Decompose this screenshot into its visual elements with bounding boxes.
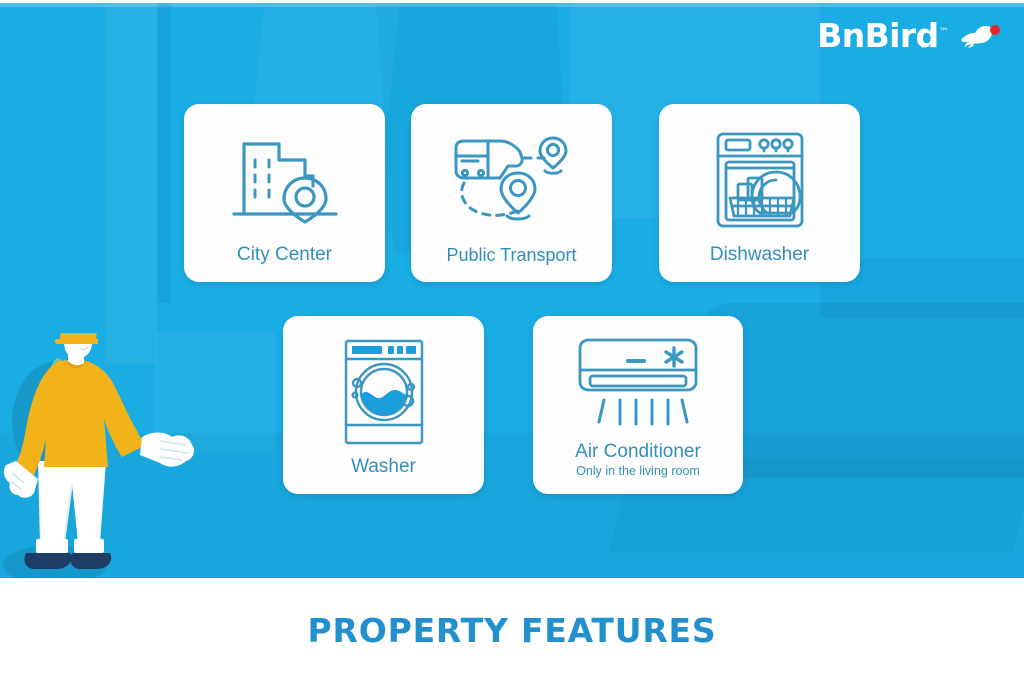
poster-root: BnBird™ [0,0,1024,683]
card-text: Washer [351,457,416,494]
brand-name: BnBird™ [817,19,948,52]
feature-card-city-center[interactable]: City Center [184,104,385,282]
feature-label: Air Conditioner [575,442,701,463]
card-icon-slot [659,104,860,245]
feature-card-air-conditioner[interactable]: Air Conditioner Only in the living room [533,316,743,494]
card-text: Dishwasher [710,245,809,282]
card-icon-slot [283,316,484,457]
feature-card-public-transport[interactable]: Public Transport [411,104,612,282]
card-text: Air Conditioner Only in the living room [575,442,701,494]
bg-bed [700,303,1024,478]
feature-sublabel: Only in the living room [576,464,700,478]
feature-label: City Center [237,245,332,266]
card-text: Public Transport [446,246,576,282]
card-text: City Center [237,245,332,282]
dishwasher-icon [708,128,812,232]
hero-panel: BnBird™ [0,3,1024,578]
bird-icon [956,21,1002,51]
brand-name-text: BnBird [817,16,938,55]
bg-wall-left [105,3,157,363]
feature-card-washer[interactable]: Washer [283,316,484,494]
caption-band: PROPERTY FEATURES [0,578,1024,683]
washing-machine-icon [338,337,430,447]
brand-logo[interactable]: BnBird™ [817,19,1002,52]
feature-label: Public Transport [446,246,576,266]
bg-wall-edge [157,3,171,303]
building-location-pin-icon [229,130,341,230]
feature-card-dishwasher[interactable]: Dishwasher [659,104,860,282]
page-title: PROPERTY FEATURES [308,611,717,650]
card-icon-slot [411,104,612,246]
feature-label: Dishwasher [710,245,809,266]
bus-route-pins-icon [448,128,576,232]
feature-label: Washer [351,457,416,478]
trademark-symbol: ™ [939,27,948,38]
card-icon-slot [184,104,385,245]
card-icon-slot [533,316,743,442]
air-conditioner-icon [570,336,706,432]
standing-person-illustration [0,333,200,578]
